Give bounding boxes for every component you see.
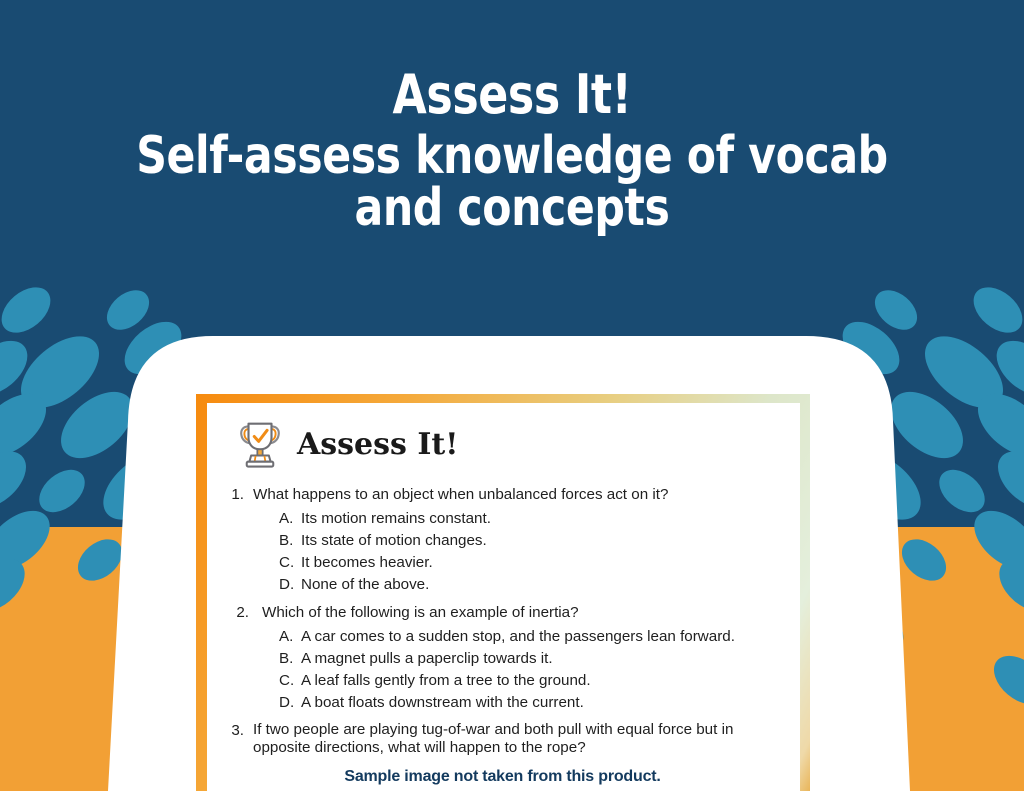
choice-label: B. xyxy=(279,648,301,670)
choice-item: C. A leaf falls gently from a tree to th… xyxy=(279,670,782,692)
choice-text: It becomes heavier. xyxy=(301,552,782,574)
question-list: 1. What happens to an object when unbala… xyxy=(223,485,782,758)
sample-disclaimer: Sample image not taken from this product… xyxy=(223,768,782,786)
worksheet-sample: Assess It! 1. What happens to an object … xyxy=(196,394,810,791)
question-text: If two people are playing tug-of-war and… xyxy=(253,721,782,758)
choice-list: A. Its motion remains constant. B. Its s… xyxy=(223,508,782,596)
worksheet-title: Assess It! xyxy=(297,427,458,462)
question-number: 1. xyxy=(223,485,253,505)
choice-text: A leaf falls gently from a tree to the g… xyxy=(301,670,782,692)
question-text: Which of the following is an example of … xyxy=(253,603,782,623)
choice-label: D. xyxy=(279,574,301,596)
choice-item: A. Its motion remains constant. xyxy=(279,508,782,530)
choice-label: A. xyxy=(279,626,301,648)
choice-label: B. xyxy=(279,530,301,552)
choice-item: A. A car comes to a sudden stop, and the… xyxy=(279,626,782,648)
choice-label: C. xyxy=(279,552,301,574)
choice-text: A boat floats downstream with the curren… xyxy=(301,692,782,714)
choice-item: B. Its state of motion changes. xyxy=(279,530,782,552)
worksheet-page: Assess It! 1. What happens to an object … xyxy=(207,403,800,791)
choice-text: Its state of motion changes. xyxy=(301,530,782,552)
headline-line-1: Assess It! xyxy=(92,68,932,122)
choice-list: A. A car comes to a sudden stop, and the… xyxy=(223,626,782,714)
choice-item: D. A boat floats downstream with the cur… xyxy=(279,692,782,714)
choice-label: C. xyxy=(279,670,301,692)
choice-item: C. It becomes heavier. xyxy=(279,552,782,574)
trophy-check-icon xyxy=(237,419,283,469)
choice-text: A car comes to a sudden stop, and the pa… xyxy=(301,626,782,648)
choice-text: Its motion remains constant. xyxy=(301,508,782,530)
headline-line-3: and concepts xyxy=(92,182,932,234)
slide-canvas: Assess It! Self-assess knowledge of voca… xyxy=(0,0,1024,791)
question-item: 1. What happens to an object when unbala… xyxy=(223,485,782,596)
choice-text: None of the above. xyxy=(301,574,782,596)
choice-item: B. A magnet pulls a paperclip towards it… xyxy=(279,648,782,670)
slide-headline: Assess It! Self-assess knowledge of voca… xyxy=(0,68,1024,234)
headline-line-2: Self-assess knowledge of vocab xyxy=(92,130,932,182)
question-number: 2. xyxy=(223,603,253,623)
question-item: 3. If two people are playing tug-of-war … xyxy=(223,721,782,758)
choice-label: D. xyxy=(279,692,301,714)
choice-item: D. None of the above. xyxy=(279,574,782,596)
question-text: What happens to an object when unbalance… xyxy=(253,485,782,505)
worksheet-header: Assess It! xyxy=(223,419,782,469)
question-number: 3. xyxy=(223,721,253,741)
choice-text: A magnet pulls a paperclip towards it. xyxy=(301,648,782,670)
question-item: 2. Which of the following is an example … xyxy=(223,603,782,714)
choice-label: A. xyxy=(279,508,301,530)
